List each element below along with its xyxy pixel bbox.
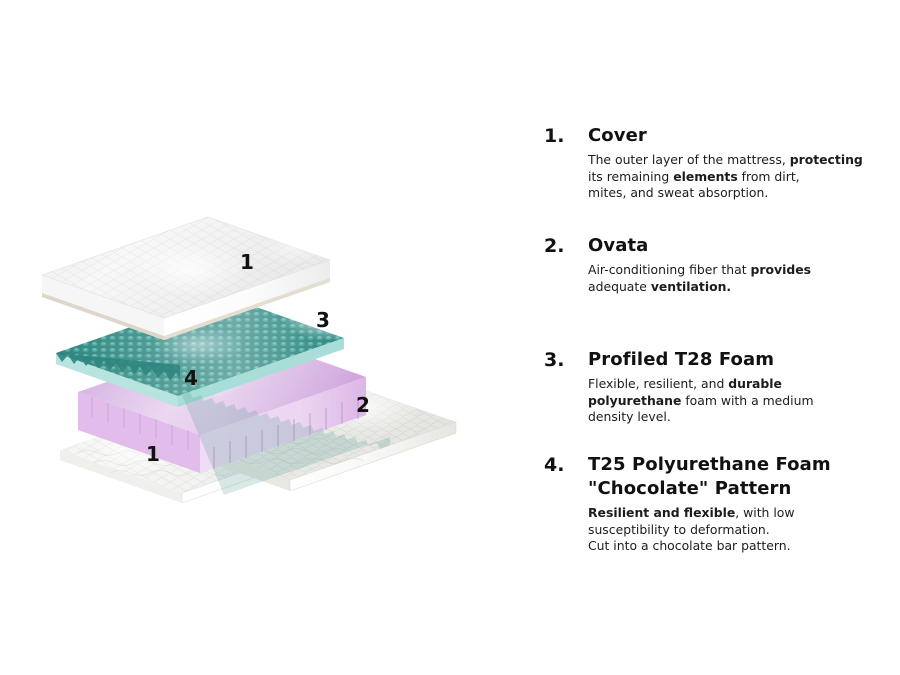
mattress-diagram: 1 3 4 2 1 [0,0,530,675]
spec-item-profiled-foam: 3. Profiled T28 Foam Flexible, resilient… [544,348,894,426]
spec-index: 3. [544,348,578,372]
spec-index: 2. [544,234,578,258]
spec-description: Air-conditioning fiber that providesadeq… [588,262,894,295]
layer-label-cover-bottom: 1 [146,444,160,464]
spec-title: Ovata [588,234,894,258]
spec-title: Profiled T28 Foam [588,348,894,372]
layer-label-cover-top: 1 [240,252,254,272]
specs-list: 1. Cover The outer layer of the mattress… [530,0,900,675]
spec-item-chocolate-foam: 4. T25 Polyurethane Foam"Chocolate" Patt… [544,453,894,555]
spec-title: Cover [588,124,894,148]
spec-body: Profiled T28 Foam Flexible, resilient, a… [588,348,894,426]
mattress-layers-illustration [18,185,528,525]
spec-index: 4. [544,453,578,477]
spec-description: The outer layer of the mattress, protect… [588,152,894,202]
spec-description: Resilient and flexible, with lowsuscepti… [588,505,894,555]
layer-label-chocolate-foam: 4 [184,368,198,388]
spec-item-ovata: 2. Ovata Air-conditioning fiber that pro… [544,234,894,295]
spec-body: T25 Polyurethane Foam"Chocolate" Pattern… [588,453,894,555]
layer-label-profiled-foam: 3 [316,310,330,330]
spec-item-cover: 1. Cover The outer layer of the mattress… [544,124,894,202]
spec-body: Ovata Air-conditioning fiber that provid… [588,234,894,295]
layer-label-ovata: 2 [356,395,370,415]
spec-description: Flexible, resilient, and durablepolyuret… [588,376,894,426]
spec-body: Cover The outer layer of the mattress, p… [588,124,894,202]
spec-index: 1. [544,124,578,148]
spec-title: T25 Polyurethane Foam"Chocolate" Pattern [588,453,894,501]
